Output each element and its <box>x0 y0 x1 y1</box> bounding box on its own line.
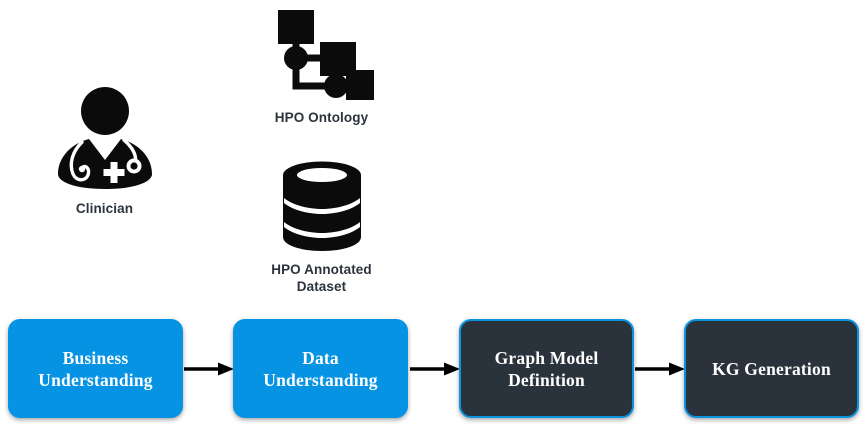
asset-hpo-ontology-label: HPO Ontology <box>275 109 368 126</box>
stage-graph-model-definition-label: Graph Model Definition <box>495 347 599 391</box>
ontology-graph-icon <box>270 8 374 100</box>
stage-kg-generation-label: KG Generation <box>712 358 831 380</box>
stage-graph-model-definition[interactable]: Graph Model Definition <box>459 319 634 418</box>
stage-business-understanding-label: Business Understanding <box>38 347 152 391</box>
arrow-graph-to-kg-icon <box>635 362 685 376</box>
asset-hpo-ontology: HPO Ontology <box>254 8 389 126</box>
asset-hpo-annotated-dataset: HPO Annotated Dataset <box>254 160 389 295</box>
stage-business-understanding[interactable]: Business Understanding <box>8 319 183 418</box>
arrow-business-to-data-icon <box>184 362 234 376</box>
stage-data-understanding[interactable]: Data Understanding <box>233 319 408 418</box>
pipeline-flow: Business Understanding Data Understandin… <box>0 319 866 420</box>
diagram-canvas: Clinician HPO Ontology <box>0 0 866 428</box>
arrow-data-to-graph-icon <box>410 362 460 376</box>
asset-clinician: Clinician <box>37 86 172 217</box>
database-cylinder-icon <box>280 160 364 252</box>
asset-clinician-label: Clinician <box>76 200 133 217</box>
asset-hpo-annotated-dataset-label: HPO Annotated Dataset <box>271 261 372 295</box>
stage-kg-generation[interactable]: KG Generation <box>684 319 859 418</box>
clinician-doctor-icon <box>55 86 155 191</box>
stage-data-understanding-label: Data Understanding <box>263 347 377 391</box>
